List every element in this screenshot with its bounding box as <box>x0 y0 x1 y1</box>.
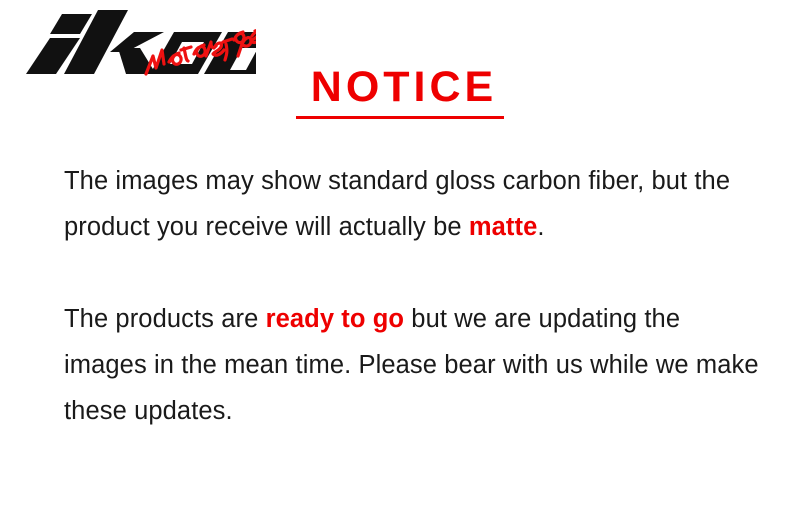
ikon-motorsports-logo-icon <box>6 4 256 80</box>
paragraph-update-status: The products are ready to go but we are … <box>64 296 764 434</box>
notice-body: The images may show standard gloss carbo… <box>64 158 764 434</box>
paragraph1-text-part1: The images may show standard gloss carbo… <box>64 167 730 241</box>
notice-heading-block: NOTICE <box>296 62 508 119</box>
title-underline <box>296 116 504 119</box>
paragraph2-text-part1: The products are <box>64 305 266 333</box>
paragraph1-highlight-matte: matte <box>469 213 538 241</box>
notice-page: { "brand": { "name": "ikon", "tagline": … <box>0 0 800 510</box>
brand-logo <box>6 4 256 80</box>
paragraph1-text-part2: . <box>537 213 544 241</box>
page-title: NOTICE <box>296 62 508 112</box>
paragraph-matte-disclaimer: The images may show standard gloss carbo… <box>64 158 764 250</box>
paragraph2-highlight-ready-to-go: ready to go <box>266 305 405 333</box>
